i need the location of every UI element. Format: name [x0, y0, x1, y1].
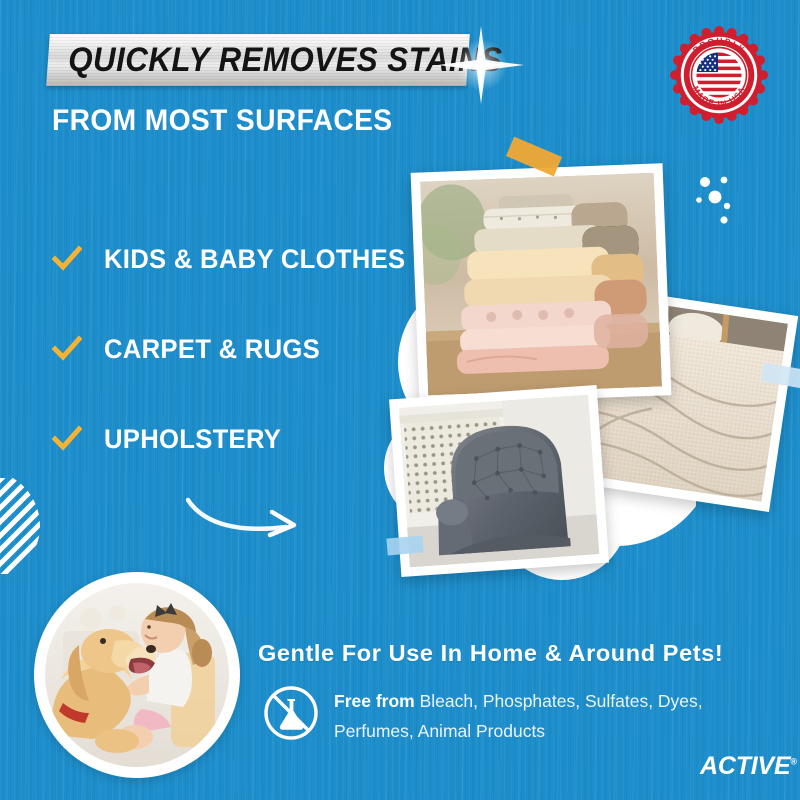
photo-image — [420, 173, 662, 396]
feature-label: CARPET & RUGS — [104, 334, 320, 365]
registered-trademark-symbol: ® — [790, 757, 796, 767]
no-chemicals-flask-icon — [262, 684, 320, 742]
product-feature-graphic: QUICKLY REMOVES STAINS FROM MOST SURFACE… — [0, 0, 800, 800]
curved-arrow-icon — [186, 496, 316, 540]
girl-with-dog-photo — [34, 572, 240, 778]
active-brand-logo: ACTIVE® — [700, 752, 797, 781]
feature-item-upholstery: UPHOLSTERY — [52, 416, 382, 462]
subheadline-text: FROM MOST SURFACES — [52, 104, 392, 138]
feature-list: KIDS & BABY CLOTHES CARPET & RUGS UPHOLS… — [52, 236, 382, 506]
diagonal-stripes-icon — [0, 478, 44, 574]
feature-item-carpet-rugs: CARPET & RUGS — [52, 326, 382, 372]
feature-label: KIDS & BABY CLOTHES — [104, 244, 405, 275]
headline-banner: QUICKLY REMOVES STAINS — [48, 34, 468, 86]
check-mark-icon — [52, 424, 82, 454]
folded-baby-clothes-photo — [411, 163, 672, 405]
check-mark-icon — [52, 244, 82, 274]
bubble-dots-icon — [694, 172, 746, 226]
check-mark-icon — [52, 334, 82, 364]
headline-text: QUICKLY REMOVES STAINS — [48, 34, 434, 86]
made-in-usa-badge: PROUDLY MADE IN USA — [670, 26, 768, 124]
photo-image — [45, 583, 229, 767]
free-from-label: Free from — [334, 691, 415, 711]
feature-item-kids-baby-clothes: KIDS & BABY CLOTHES — [52, 236, 382, 282]
photo-image — [399, 395, 600, 568]
feature-label: UPHOLSTERY — [104, 424, 281, 455]
gentle-for-pets-headline: Gentle For Use In Home & Around Pets! — [258, 640, 723, 667]
tape-strip-blue-left — [386, 535, 423, 555]
brand-name: ACTIVE — [700, 752, 790, 780]
free-from-text: Free from Bleach, Phosphates, Sulfates, … — [334, 686, 754, 746]
